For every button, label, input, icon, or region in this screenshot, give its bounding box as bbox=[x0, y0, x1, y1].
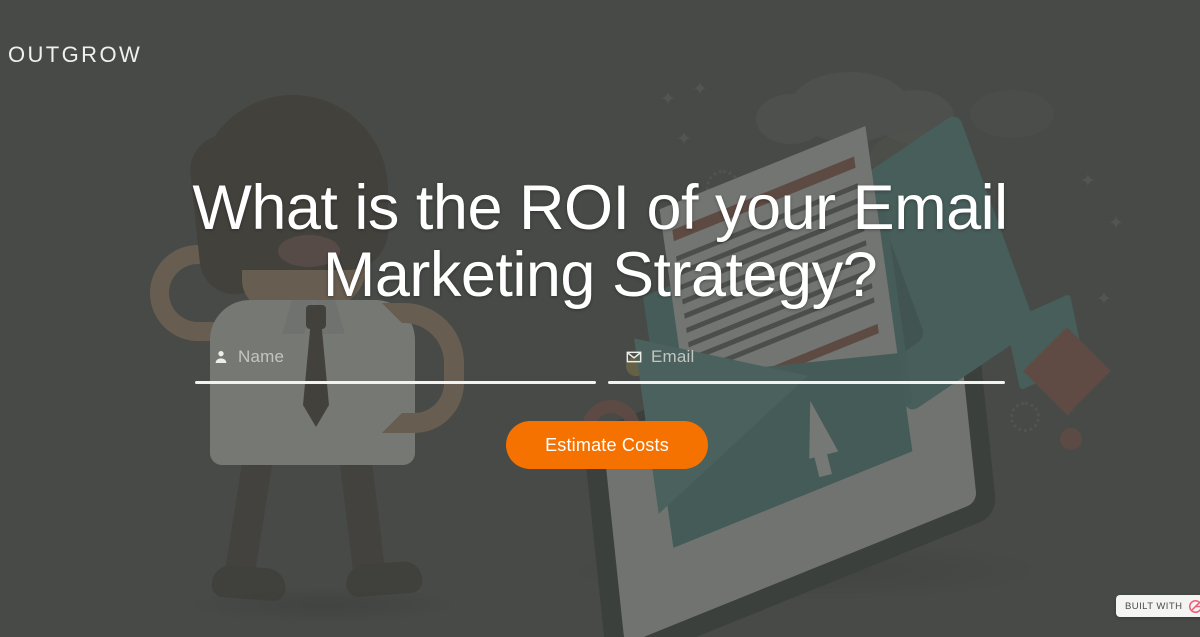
cloud-icon bbox=[970, 90, 1054, 138]
email-field[interactable]: Email bbox=[608, 340, 1005, 384]
name-field-placeholder: Name bbox=[238, 347, 284, 367]
email-scene-illustration: ✦ ✦ ✦ ✦ ✦ ✦ ✦ bbox=[540, 70, 1140, 570]
dot-marker bbox=[1060, 428, 1082, 450]
businessman-illustration bbox=[150, 95, 510, 555]
built-with-badge[interactable]: BUILT WITH bbox=[1116, 595, 1200, 617]
page-headline: What is the ROI of your Email Marketing … bbox=[50, 175, 1150, 309]
email-field-underline bbox=[608, 381, 1005, 384]
name-field-underline bbox=[195, 381, 596, 384]
outgrow-logo-icon bbox=[1188, 599, 1200, 614]
person-icon bbox=[213, 349, 229, 365]
email-field-placeholder: Email bbox=[651, 347, 695, 367]
built-with-label: BUILT WITH bbox=[1125, 601, 1182, 612]
envelope-icon bbox=[626, 349, 642, 365]
estimate-costs-button[interactable]: Estimate Costs bbox=[506, 421, 708, 469]
sparkle-icon: ✦ bbox=[676, 128, 692, 151]
landing-page-stage: ✦ ✦ ✦ ✦ ✦ ✦ ✦ bbox=[0, 0, 1200, 637]
brand-logo[interactable]: OUTGROW bbox=[8, 42, 142, 68]
gear-icon bbox=[1010, 402, 1040, 432]
name-field[interactable]: Name bbox=[195, 340, 596, 384]
background-illustration: ✦ ✦ ✦ ✦ ✦ ✦ ✦ bbox=[0, 0, 1200, 637]
sparkle-icon: ✦ bbox=[692, 78, 708, 101]
figure-shadow bbox=[188, 587, 458, 623]
lead-capture-form: Name Email bbox=[0, 340, 1200, 384]
sparkle-icon: ✦ bbox=[660, 88, 676, 111]
